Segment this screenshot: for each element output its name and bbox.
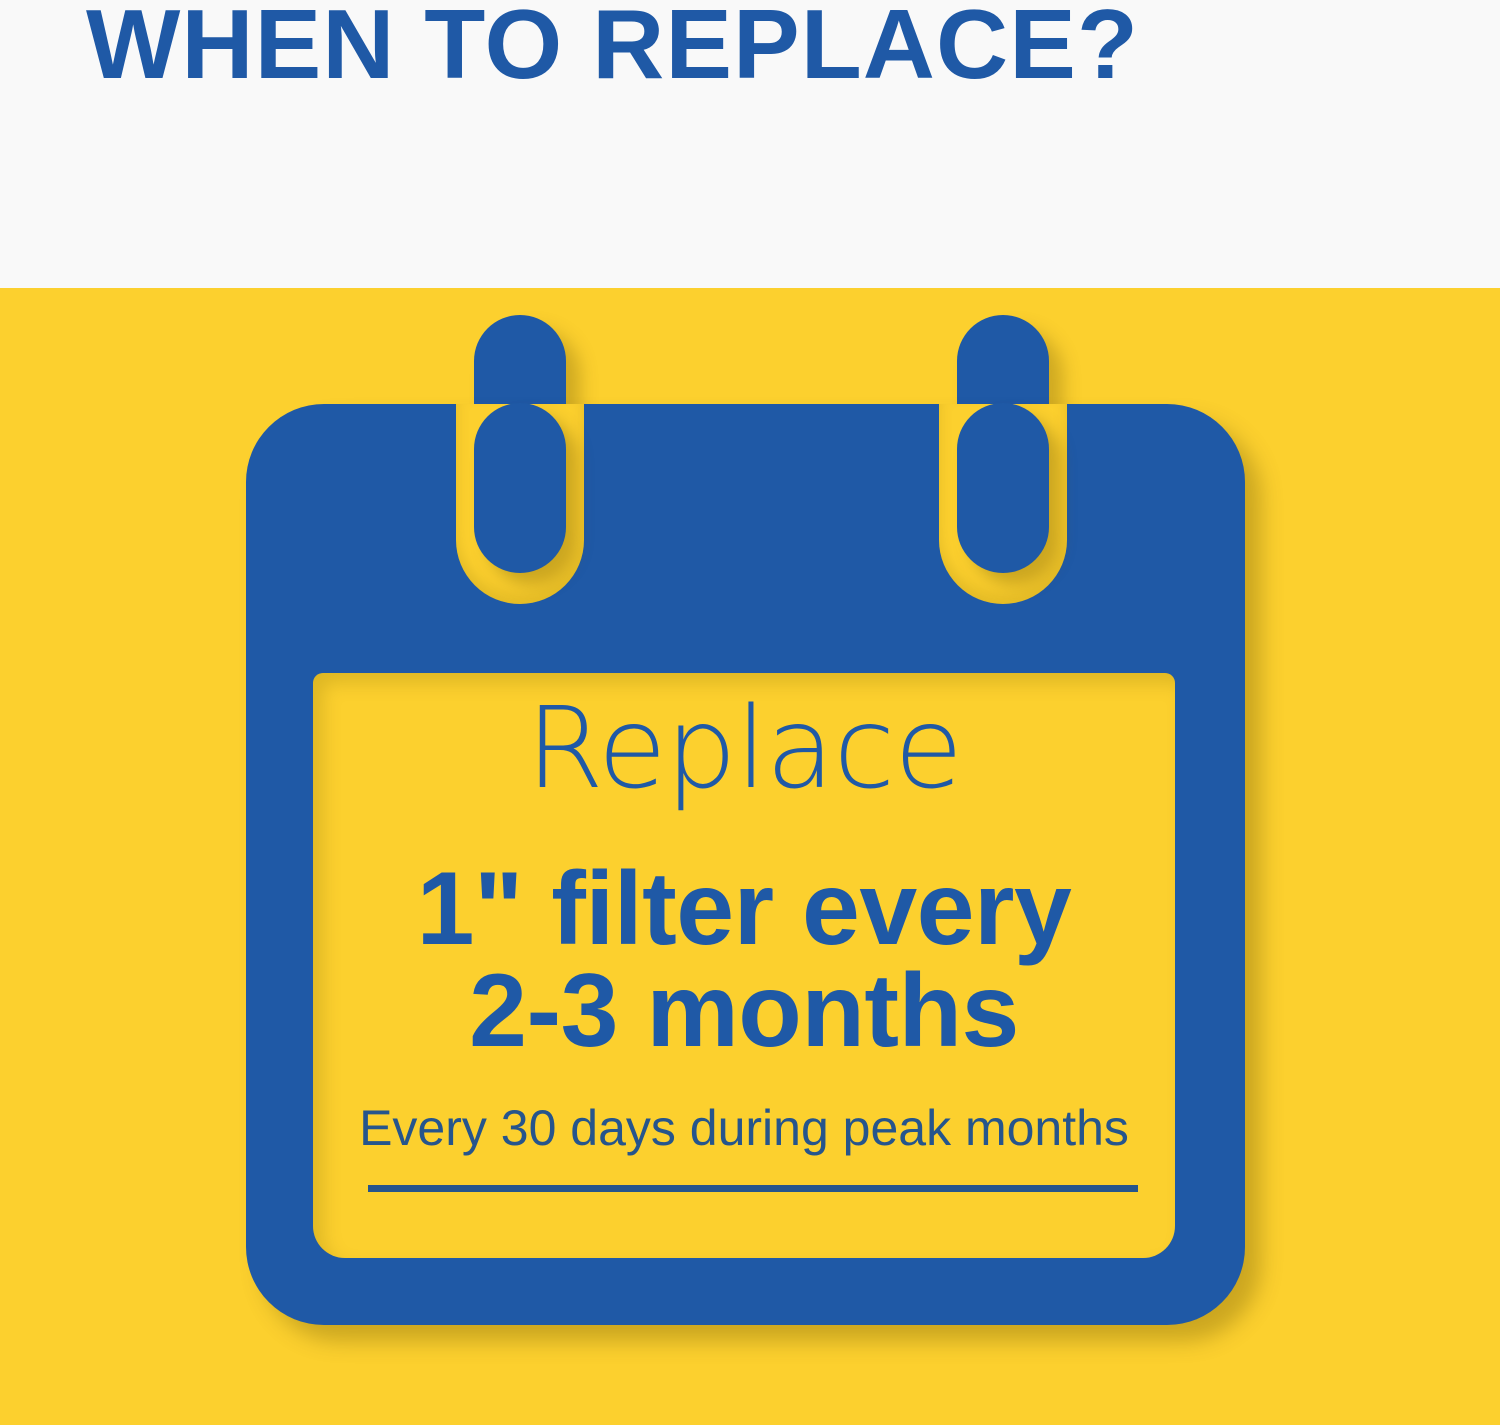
calendar-ring-right-inner-icon — [957, 403, 1049, 573]
infographic-page: WHEN TO REPLACE? Replace 1" filter every… — [0, 0, 1500, 1425]
calendar-ring-left-inner-icon — [474, 403, 566, 573]
replace-heading: Replace — [313, 693, 1175, 805]
replace-detail-text: 1" filter every 2-3 months — [313, 858, 1175, 1062]
calendar-icon: Replace 1" filter every 2-3 months Every… — [0, 288, 1500, 1425]
calendar-page-area: Replace 1" filter every 2-3 months Every… — [313, 673, 1175, 1258]
peak-months-note-underline — [368, 1185, 1138, 1192]
peak-months-note: Every 30 days during peak months — [359, 1101, 1129, 1155]
replace-detail-line-1: 1" filter every — [313, 858, 1175, 960]
yellow-content-panel: Replace 1" filter every 2-3 months Every… — [0, 288, 1500, 1425]
peak-note-container: Every 30 days during peak months — [313, 1101, 1175, 1155]
header-band: WHEN TO REPLACE? — [0, 0, 1500, 288]
page-title: WHEN TO REPLACE? — [86, 0, 1139, 92]
replace-detail-line-2: 2-3 months — [313, 960, 1175, 1062]
